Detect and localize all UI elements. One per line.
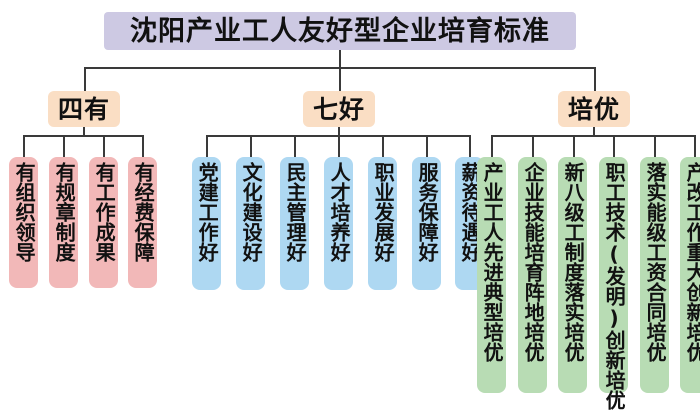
connector-qihao-drop-3 [294,135,296,157]
leaf-label: 服务保障好 [416,162,437,262]
leaf-item[interactable]: 服务保障好 [412,157,441,290]
diagram-title-text: 沈阳产业工人友好型企业培育标准 [130,18,550,45]
leaf-item[interactable]: 党建工作好 [192,157,221,290]
connector-siyou-drop-2 [63,135,65,157]
leaf-label: 有经费保障 [132,162,153,262]
connector-siyou-drop-4 [142,135,144,157]
branch-header-peiyou-label: 培优 [568,97,620,122]
leaf-label: 新八级工制度落实培优 [562,162,583,362]
leaf-item[interactable]: 落实能级工资合同培优 [640,157,669,393]
leaf-item[interactable]: 有经费保障 [128,157,157,288]
connector-peiyou-drop-5 [654,135,656,157]
leaf-label: 产改工作重大创新培优 [684,162,700,362]
leaf-item[interactable]: 有组织领导 [9,157,38,288]
leaf-label: 有组织领导 [13,162,34,262]
connector-peiyou-drop-1 [491,135,493,157]
connector-siyou-drop-1 [23,135,25,157]
leaf-item[interactable]: 新八级工制度落实培优 [558,157,587,393]
connector-peiyou-drop-2 [532,135,534,157]
connector-peiyou-drop-4 [613,135,615,157]
leaf-label: 有工作成果 [93,162,114,262]
connector-root-to-peiyou [594,67,596,91]
org-chart-diagram: 沈阳产业工人友好型企业培育标准 四有 七好 培优 有组织领导 有规章制度 有工作… [0,0,700,400]
leaf-label: 民主管理好 [284,162,305,262]
leaf-item[interactable]: 有工作成果 [89,157,118,288]
leaf-item[interactable]: 人才培养好 [324,157,353,290]
leaf-label: 人才培养好 [328,162,349,262]
leaf-item[interactable]: 有规章制度 [49,157,78,288]
connector-peiyou-drop-6 [694,135,696,157]
leaf-item[interactable]: 民主管理好 [280,157,309,290]
branch-header-siyou[interactable]: 四有 [48,91,120,127]
connector-root-to-siyou [84,67,86,91]
connector-qihao-drop-6 [426,135,428,157]
leaf-label: 职工技术(发明)创新培优 [603,162,624,410]
connector-qihao-drop-4 [338,135,340,157]
diagram-title-box: 沈阳产业工人友好型企业培育标准 [104,12,576,50]
connector-siyou-drop-3 [103,135,105,157]
branch-header-siyou-label: 四有 [58,97,110,122]
connector-root-stem [339,50,341,68]
leaf-label: 职业发展好 [372,162,393,262]
leaf-label: 落实能级工资合同培优 [644,162,665,362]
connector-siyou-bus [23,135,143,137]
branch-header-qihao[interactable]: 七好 [303,91,375,127]
connector-qihao-drop-1 [206,135,208,157]
leaf-item[interactable]: 产业工人先进典型培优 [477,157,506,393]
leaf-label: 党建工作好 [196,162,217,262]
connector-peiyou-bus [491,135,695,137]
connector-qihao-drop-7 [469,135,471,157]
leaf-item[interactable]: 产改工作重大创新培优 [680,157,700,393]
leaf-item[interactable]: 职业发展好 [368,157,397,290]
connector-peiyou-drop-3 [573,135,575,157]
leaf-item[interactable]: 企业技能培育阵地培优 [518,157,547,393]
branch-header-qihao-label: 七好 [313,97,365,122]
connector-root-to-qihao [339,67,341,91]
connector-qihao-drop-5 [382,135,384,157]
leaf-item[interactable]: 文化建设好 [236,157,265,290]
leaf-label: 产业工人先进典型培优 [481,162,502,362]
leaf-label: 文化建设好 [240,162,261,262]
leaf-item[interactable]: 职工技术(发明)创新培优 [599,157,628,393]
connector-qihao-drop-2 [250,135,252,157]
leaf-label: 有规章制度 [53,162,74,262]
leaf-label: 企业技能培育阵地培优 [522,162,543,362]
branch-header-peiyou[interactable]: 培优 [558,91,630,127]
